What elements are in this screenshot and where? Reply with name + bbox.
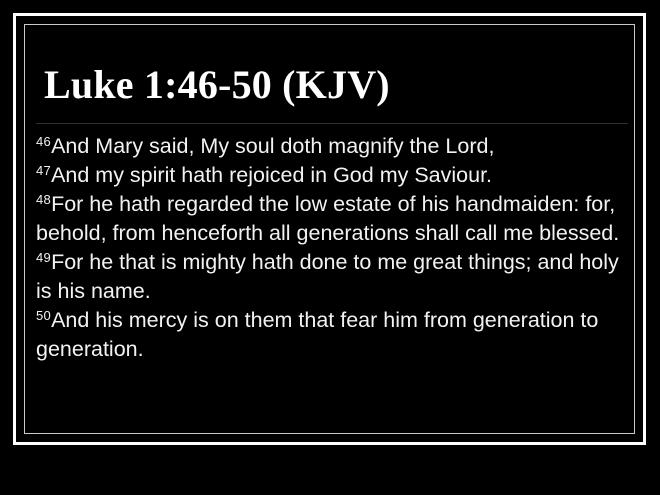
verse-number: 48 — [36, 192, 51, 207]
verse-item: 50And his mercy is on them that fear him… — [36, 306, 624, 364]
verse-text: And Mary said, My soul doth magnify the … — [51, 134, 494, 158]
verse-text: And my spirit hath rejoiced in God my Sa… — [51, 163, 492, 187]
slide-title: Luke 1:46-50 (KJV) — [44, 62, 390, 108]
title-divider-rule — [36, 123, 628, 124]
slide-content: Luke 1:46-50 (KJV) 46And Mary said, My s… — [36, 36, 631, 422]
verse-item: 49For he that is mighty hath done to me … — [36, 248, 624, 306]
verse-number: 46 — [36, 134, 51, 149]
verse-number: 49 — [36, 250, 51, 265]
verse-number: 47 — [36, 163, 51, 178]
verse-text: And his mercy is on them that fear him f… — [36, 308, 598, 361]
verse-number: 50 — [36, 308, 51, 323]
verse-item: 46And Mary said, My soul doth magnify th… — [36, 132, 624, 161]
verse-text: For he hath regarded the low estate of h… — [36, 192, 619, 245]
verse-text: For he that is mighty hath done to me gr… — [36, 250, 619, 303]
verse-list: 46And Mary said, My soul doth magnify th… — [36, 132, 624, 364]
verse-item: 48For he hath regarded the low estate of… — [36, 190, 624, 248]
verse-item: 47And my spirit hath rejoiced in God my … — [36, 161, 624, 190]
presentation-slide: Luke 1:46-50 (KJV) 46And Mary said, My s… — [0, 0, 660, 495]
